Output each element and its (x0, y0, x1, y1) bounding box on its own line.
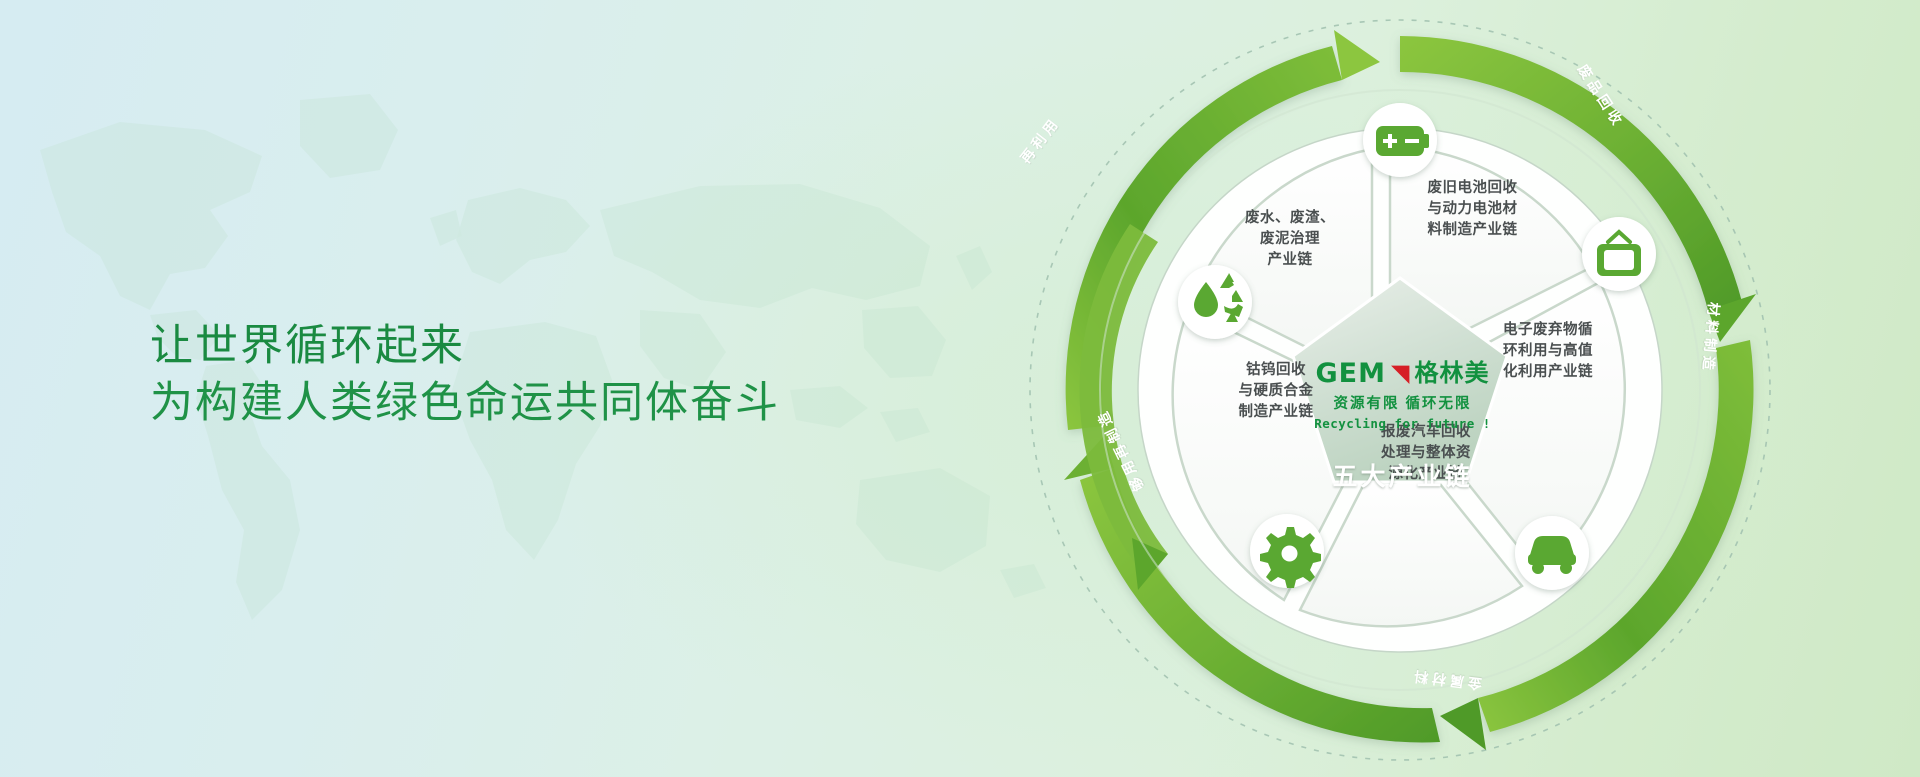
core-label: 五大产业链 (1290, 457, 1515, 493)
headline-line-2: 为构建人类绿色命运共同体奋斗 (150, 375, 780, 432)
logo-slogan-cn: 资源有限 循环无限 (1290, 392, 1515, 413)
logo-row: GEM ◥ 格林美 (1290, 360, 1515, 387)
recycle-drop-icon (1178, 265, 1252, 339)
gear-icon (1250, 514, 1324, 588)
banner-stage: 让世界循环起来 为构建人类绿色命运共同体奋斗 (0, 0, 1920, 777)
center-logo-lockup: GEM ◥ 格林美 资源有限 循环无限 Recycling for future… (1290, 360, 1515, 493)
logo-chinese-name: 格林美 (1414, 362, 1489, 386)
car-icon (1515, 516, 1589, 590)
television-icon (1582, 217, 1656, 291)
battery-icon (1363, 103, 1437, 177)
headline-block: 让世界循环起来 为构建人类绿色命运共同体奋斗 (150, 318, 780, 432)
headline-line-1: 让世界循环起来 (150, 318, 780, 375)
logo-wordmark: GEM (1316, 360, 1386, 387)
logo-accent-mark: ◥ (1391, 362, 1409, 386)
logo-slogan-en: Recycling for future ! (1290, 416, 1515, 431)
